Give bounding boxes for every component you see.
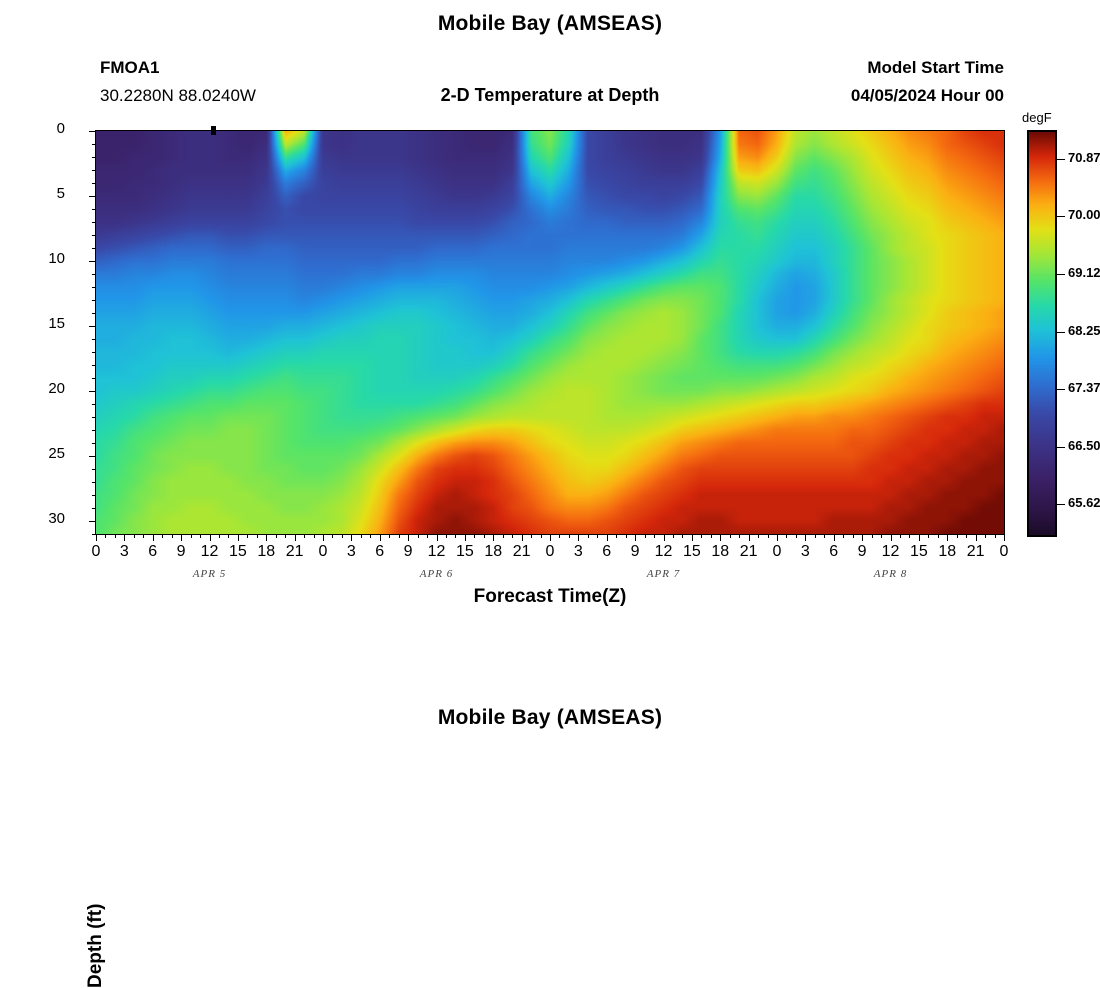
x-axis-minor-tick [786,534,787,538]
x-axis-tick [919,534,920,541]
x-axis-minor-tick [909,534,910,538]
x-axis-tick-label: 6 [592,543,622,561]
x-axis-tick-label: 3 [563,543,593,561]
x-axis-minor-tick [370,534,371,538]
x-axis-minor-tick [531,534,532,538]
x-axis-minor-tick [455,534,456,538]
x-axis-minor-tick [200,534,201,538]
x-axis-minor-tick [768,534,769,538]
x-axis-minor-tick [730,534,731,538]
x-axis-tick [295,534,296,541]
x-axis-minor-tick [247,534,248,538]
y-axis-minor-tick [92,157,96,158]
x-axis-minor-tick [474,534,475,538]
x-axis-minor-tick [276,534,277,538]
x-axis-tick-label: 21 [961,543,991,561]
x-axis-minor-tick [616,534,617,538]
y-axis-minor-tick [92,417,96,418]
observation-marker-icon [211,126,216,135]
y-axis-minor-tick [92,404,96,405]
x-axis-minor-tick [682,534,683,538]
y-axis-tick-label: 15 [25,315,65,332]
x-axis-tick [805,534,806,541]
x-axis-minor-tick [389,534,390,538]
y-axis-tick [89,196,96,197]
y-axis-tick-label: 0 [25,120,65,137]
y-axis-minor-tick [92,378,96,379]
x-axis-tick-label: 18 [478,543,508,561]
y-axis-tick [89,131,96,132]
x-axis-tick-label: 15 [223,543,253,561]
x-axis-tick-label: 0 [762,543,792,561]
x-axis-tick-label: 21 [734,543,764,561]
y-axis-minor-tick [92,469,96,470]
x-axis-tick [493,534,494,541]
model-start-time-label: Model Start Time [867,58,1004,78]
x-axis-tick-label: 12 [195,543,225,561]
y-axis-minor-tick [92,339,96,340]
y-axis-minor-tick [92,365,96,366]
colorbar-tick-label: 69.125 [1068,265,1100,280]
y-axis-minor-tick [92,443,96,444]
x-axis-tick [635,534,636,541]
x-axis-tick [238,534,239,541]
x-axis-tick [96,534,97,541]
y-axis-minor-tick [92,508,96,509]
x-axis-tick [1004,534,1005,541]
y-axis-minor-tick [92,482,96,483]
colorbar-tick-label: 68.250 [1068,323,1100,338]
colorbar-tick [1057,159,1065,160]
x-axis-day-label: APR 6 [402,568,472,580]
x-axis-tick [664,534,665,541]
x-axis-minor-tick [900,534,901,538]
x-axis-minor-tick [645,534,646,538]
x-axis-tick [153,534,154,541]
y-axis-tick-label: 5 [25,185,65,202]
temperature-heatmap [96,131,1004,534]
x-axis-tick-label: 12 [876,543,906,561]
x-axis-minor-tick [484,534,485,538]
x-axis-tick [947,534,948,541]
y-axis-minor-tick [92,313,96,314]
x-axis-tick [437,534,438,541]
y-axis-minor-tick [92,248,96,249]
x-axis-minor-tick [172,534,173,538]
colorbar: 65.62566.50067.37568.25069.12570.00070.8… [1027,130,1057,537]
x-axis-minor-tick [285,534,286,538]
x-axis-tick [976,534,977,541]
x-axis-tick-label: 3 [109,543,139,561]
x-axis-tick [607,534,608,541]
colorbar-tick [1057,389,1065,390]
x-axis-tick [181,534,182,541]
x-axis-tick-label: 9 [847,543,877,561]
model-start-time-value: 04/05/2024 Hour 00 [851,86,1004,106]
x-axis-minor-tick [191,534,192,538]
x-axis-minor-tick [588,534,589,538]
x-axis-tick-label: 3 [336,543,366,561]
x-axis-tick [380,534,381,541]
x-axis-tick-label: 18 [251,543,281,561]
x-axis-tick-label: 9 [393,543,423,561]
x-axis-minor-tick [399,534,400,538]
x-axis-tick-label: 15 [450,543,480,561]
x-axis-minor-tick [342,534,343,538]
x-axis-minor-tick [985,534,986,538]
x-axis-minor-tick [304,534,305,538]
y-axis-tick-label: 30 [25,510,65,527]
footer-title: Mobile Bay (AMSEAS) [0,706,1100,730]
x-axis-tick [266,534,267,541]
x-axis-minor-tick [701,534,702,538]
y-axis-minor-tick [92,274,96,275]
x-axis-minor-tick [938,534,939,538]
y-axis-minor-tick [92,287,96,288]
x-axis-tick [465,534,466,541]
x-axis-minor-tick [143,534,144,538]
x-axis-minor-tick [626,534,627,538]
x-axis-minor-tick [314,534,315,538]
x-axis-minor-tick [995,534,996,538]
y-axis-minor-tick [92,222,96,223]
x-axis-minor-tick [966,534,967,538]
x-axis-tick [323,534,324,541]
x-axis-minor-tick [446,534,447,538]
x-axis-minor-tick [928,534,929,538]
x-axis-minor-tick [162,534,163,538]
x-axis-minor-tick [332,534,333,538]
colorbar-tick [1057,274,1065,275]
colorbar-tick [1057,332,1065,333]
x-axis-tick [351,534,352,541]
x-axis-day-label: APR 5 [175,568,245,580]
y-axis-tick [89,521,96,522]
x-axis-tick-label: 0 [81,543,111,561]
x-axis-minor-tick [503,534,504,538]
x-axis-minor-tick [134,534,135,538]
y-axis-minor-tick [92,495,96,496]
x-axis-minor-tick [115,534,116,538]
x-axis-minor-tick [105,534,106,538]
x-axis-minor-tick [843,534,844,538]
x-axis-tick [720,534,721,541]
x-axis-minor-tick [597,534,598,538]
x-axis-tick-label: 18 [932,543,962,561]
y-axis-tick [89,456,96,457]
x-axis-tick [522,534,523,541]
colorbar-tick-label: 67.375 [1068,380,1100,395]
y-axis-tick [89,261,96,262]
x-axis-tick-label: 12 [422,543,452,561]
x-axis-tick-label: 18 [705,543,735,561]
colorbar-tick-label: 70.875 [1068,150,1100,165]
x-axis-minor-tick [872,534,873,538]
y-axis-minor-tick [92,300,96,301]
x-axis-label: Forecast Time(Z) [0,586,1100,608]
x-axis-minor-tick [957,534,958,538]
x-axis-tick-label: 21 [280,543,310,561]
y-axis-tick-label: 25 [25,445,65,462]
y-axis-tick-label: 10 [25,250,65,267]
x-axis-minor-tick [881,534,882,538]
x-axis-tick-label: 9 [620,543,650,561]
y-axis-minor-tick [92,235,96,236]
x-axis-minor-tick [559,534,560,538]
x-axis-minor-tick [257,534,258,538]
colorbar-tick [1057,216,1065,217]
colorbar-gradient [1027,130,1057,537]
x-axis-minor-tick [541,534,542,538]
x-axis-tick-label: 6 [365,543,395,561]
y-axis-minor-tick [92,144,96,145]
x-axis-tick [550,534,551,541]
x-axis-tick [749,534,750,541]
colorbar-unit-label: degF [1022,110,1052,125]
y-axis-minor-tick [92,352,96,353]
y-axis-tick-label: 20 [25,380,65,397]
x-axis-tick [692,534,693,541]
x-axis-minor-tick [418,534,419,538]
x-axis-tick [210,534,211,541]
x-axis-day-label: APR 8 [856,568,926,580]
x-axis-tick-label: 9 [166,543,196,561]
x-axis-tick-label: 6 [819,543,849,561]
x-axis-minor-tick [796,534,797,538]
page-title: Mobile Bay (AMSEAS) [0,12,1100,36]
colorbar-tick-label: 70.000 [1068,207,1100,222]
x-axis-tick [834,534,835,541]
x-axis-tick [408,534,409,541]
x-axis-minor-tick [427,534,428,538]
y-axis-minor-tick [92,430,96,431]
x-axis-minor-tick [361,534,362,538]
y-axis-tick [89,391,96,392]
x-axis-tick-label: 21 [507,543,537,561]
x-axis-minor-tick [758,534,759,538]
heatmap-plot-area: Depth (ft) 03691215182103691215182103691… [95,130,1005,535]
x-axis-minor-tick [824,534,825,538]
x-axis-minor-tick [853,534,854,538]
x-axis-minor-tick [711,534,712,538]
x-axis-tick [124,534,125,541]
y-axis-minor-tick [92,209,96,210]
x-axis-tick-label: 0 [989,543,1019,561]
colorbar-tick-label: 65.625 [1068,495,1100,510]
x-axis-tick-label: 6 [138,543,168,561]
x-axis-minor-tick [569,534,570,538]
x-axis-tick [862,534,863,541]
x-axis-minor-tick [219,534,220,538]
x-axis-minor-tick [512,534,513,538]
x-axis-minor-tick [815,534,816,538]
x-axis-tick [578,534,579,541]
y-axis-minor-tick [92,170,96,171]
x-axis-tick [777,534,778,541]
x-axis-tick-label: 15 [677,543,707,561]
x-axis-minor-tick [739,534,740,538]
x-axis-day-label: APR 7 [629,568,699,580]
x-axis-tick-label: 12 [649,543,679,561]
colorbar-tick [1057,504,1065,505]
colorbar-tick [1057,447,1065,448]
x-axis-tick-label: 15 [904,543,934,561]
x-axis-minor-tick [673,534,674,538]
x-axis-minor-tick [228,534,229,538]
x-axis-tick-label: 3 [790,543,820,561]
y-axis-minor-tick [92,183,96,184]
x-axis-tick [891,534,892,541]
colorbar-tick-label: 66.500 [1068,438,1100,453]
x-axis-tick-label: 0 [308,543,338,561]
y-axis-tick [89,326,96,327]
x-axis-minor-tick [654,534,655,538]
x-axis-tick-label: 0 [535,543,565,561]
station-id: FMOA1 [100,58,160,78]
